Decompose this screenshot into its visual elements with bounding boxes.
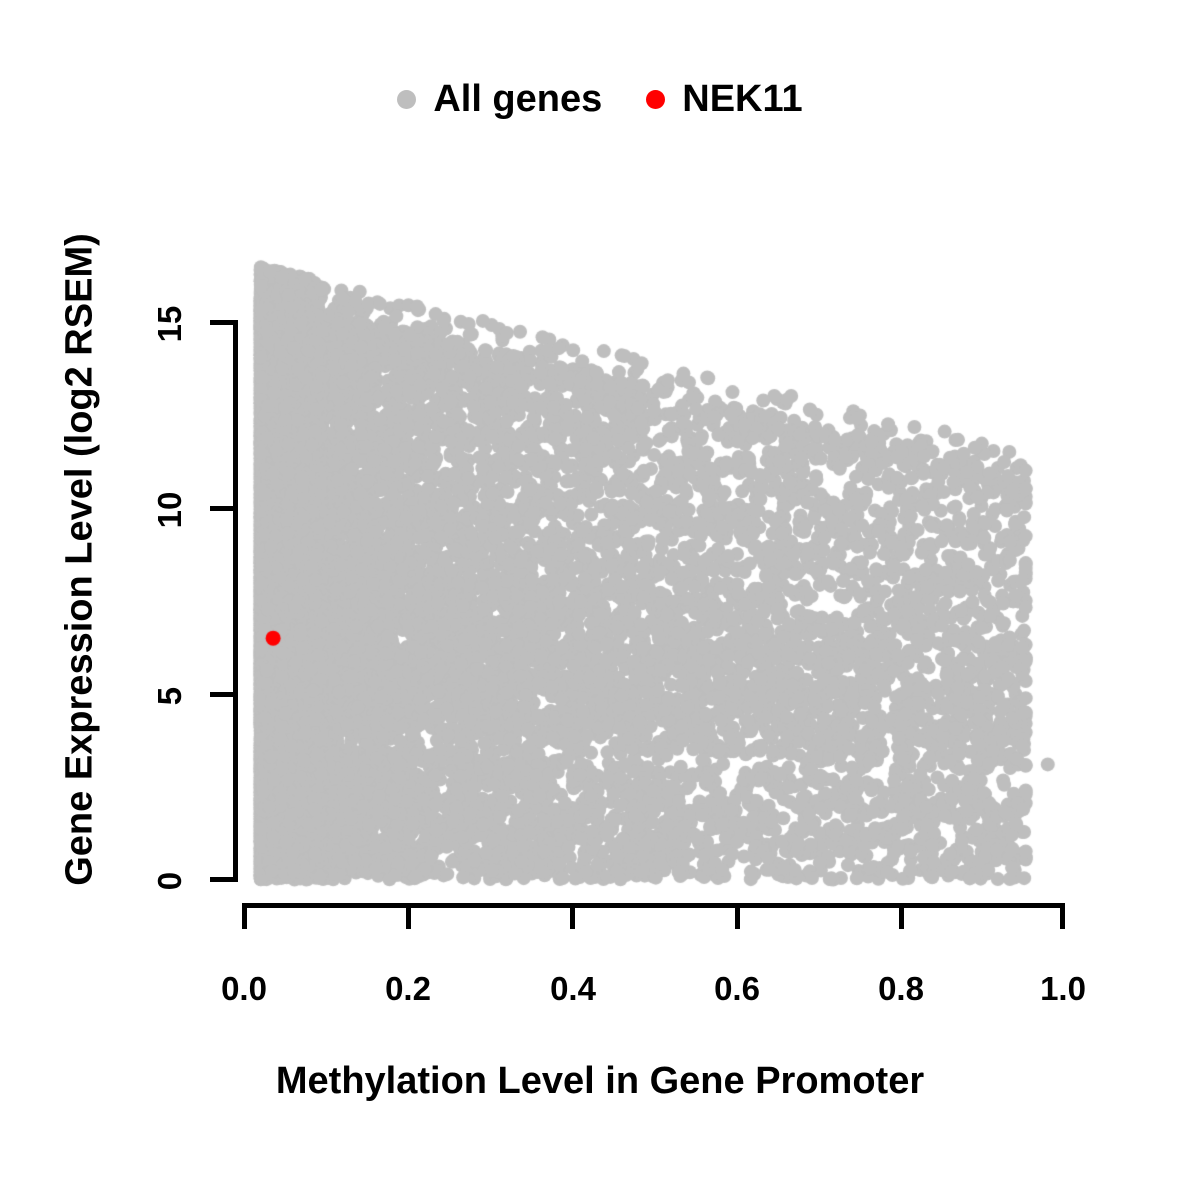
legend-item-all-genes: All genes <box>397 80 602 118</box>
scatter-plot-canvas <box>0 0 1200 1200</box>
x-tick-label-02: 0.2 <box>358 970 458 1008</box>
x-axis-title: Methylation Level in Gene Promoter <box>0 1060 1200 1103</box>
x-tick-08 <box>899 903 904 929</box>
x-tick-04 <box>570 903 575 929</box>
chart-legend: All genes NEK11 <box>0 80 1200 118</box>
legend-label-all-genes: All genes <box>433 80 602 118</box>
y-axis-title: Gene Expression Level (log2 RSEM) <box>59 233 101 886</box>
x-tick-10 <box>1060 903 1065 929</box>
y-axis-line <box>233 320 238 882</box>
x-axis-line <box>242 903 1065 908</box>
legend-dot-all-genes-icon <box>397 90 416 109</box>
x-tick-label-0: 0.0 <box>194 970 294 1008</box>
y-tick-label-15: 15 <box>151 294 189 354</box>
scatter-plot-figure: All genes NEK11 15 10 5 0 0.0 0.2 0.4 0.… <box>0 0 1200 1200</box>
x-tick-06 <box>735 903 740 929</box>
y-tick-label-5: 5 <box>151 674 189 718</box>
legend-item-nek11: NEK11 <box>646 80 802 118</box>
x-tick-label-10: 1.0 <box>1013 970 1113 1008</box>
legend-dot-nek11-icon <box>646 90 665 109</box>
y-axis-title-wrap: Gene Expression Level (log2 RSEM) <box>59 0 102 1160</box>
x-tick-label-06: 0.6 <box>687 970 787 1008</box>
y-tick-0 <box>210 877 234 882</box>
y-tick-label-0: 0 <box>151 859 189 903</box>
y-tick-5 <box>210 692 234 697</box>
y-tick-10 <box>210 506 234 511</box>
x-tick-02 <box>406 903 411 929</box>
x-tick-0 <box>242 903 247 929</box>
x-tick-label-08: 0.8 <box>851 970 951 1008</box>
x-tick-label-04: 0.4 <box>523 970 623 1008</box>
y-tick-15 <box>210 320 234 325</box>
legend-label-nek11: NEK11 <box>682 80 802 118</box>
y-tick-label-10: 10 <box>151 480 189 540</box>
